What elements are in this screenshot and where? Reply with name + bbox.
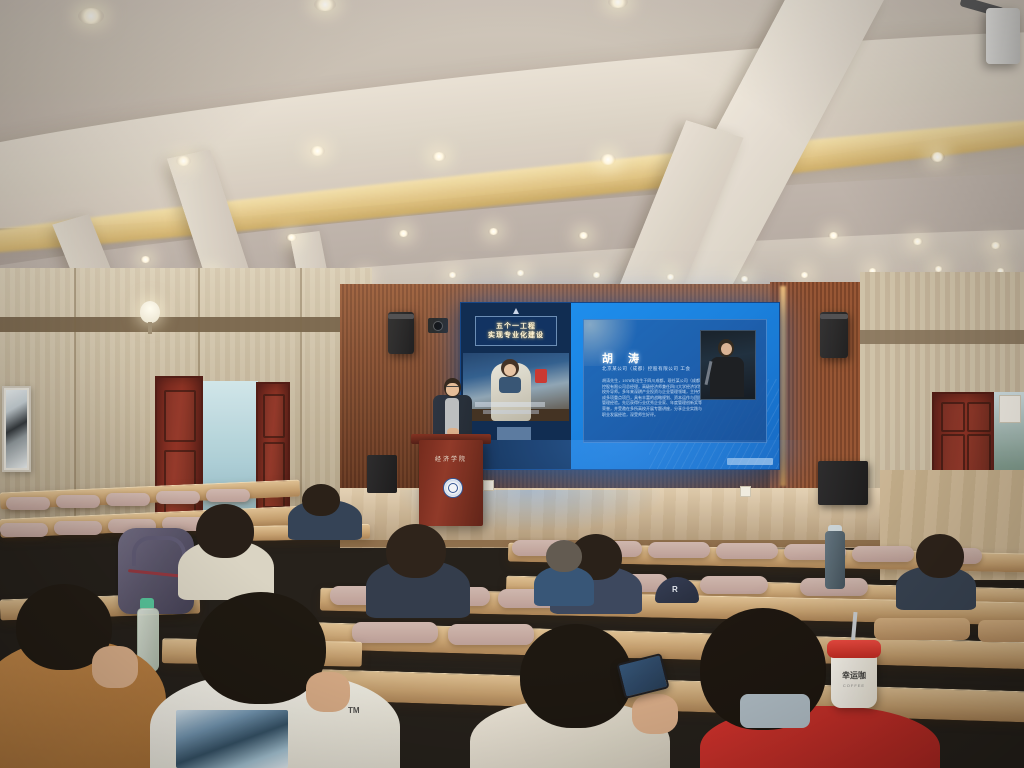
slide-right-panel: 胡 涛 北京某公司（成都）控股有限公司 工会 胡涛先生，1978年出生于四川成都… (571, 303, 779, 469)
chair-back (56, 495, 100, 508)
slide-title-line2: 实现专业化建设 (488, 332, 544, 340)
glasses-icon (446, 386, 459, 390)
ceiling-downlight (488, 228, 499, 235)
wall-sconce-arm (148, 322, 152, 334)
person-head (916, 534, 964, 578)
wall-seam (300, 268, 302, 530)
profile-name: 胡 涛 (602, 350, 645, 366)
chair-back (54, 521, 102, 535)
wall-sconce (140, 301, 160, 323)
floor-subwoofer (818, 461, 868, 505)
door-panel (164, 450, 196, 514)
tshirt-tm-mark: TM (348, 706, 360, 715)
chair-back (716, 543, 778, 559)
cup-brand-sub: COFFEE (831, 683, 877, 688)
ceiling-downlight (286, 234, 297, 241)
chair-back (352, 622, 438, 643)
person-hand (92, 646, 138, 688)
chair-back (648, 542, 710, 558)
video-caption-bar (475, 402, 545, 407)
person-collar (740, 694, 810, 728)
tshirt-graphic (176, 710, 288, 768)
person-shoulders (534, 566, 594, 606)
chair-back (156, 491, 200, 504)
slide-video-still (463, 353, 569, 421)
backpack-zipper (128, 569, 184, 578)
ceiling-downlight (800, 272, 809, 278)
chair-seat-wood (978, 620, 1024, 642)
ceiling-projector (986, 8, 1020, 64)
ceiling-downlight (310, 146, 325, 156)
profile-card: 胡 涛 北京某公司（成都）控股有限公司 工会 胡涛先生，1978年出生于四川成都… (583, 319, 767, 443)
ceiling-downlight (578, 232, 589, 239)
cap-logo: R (672, 585, 678, 594)
wall-outlet-plate (483, 480, 494, 491)
cup-brand-text: 幸运咖 (831, 670, 877, 681)
chair-back (206, 489, 250, 502)
slide-title-box: 五个一工程 实现专业化建设 (475, 316, 557, 346)
chair-back (0, 523, 48, 537)
projection-screen: 五个一工程 实现专业化建设 胡 涛 北京某公司（成都）控股有限公司 工会 (460, 302, 780, 470)
profile-subtitle: 北京某公司（成都）控股有限公司 工会 (602, 366, 691, 372)
chair-seat-wood (874, 618, 970, 640)
ink-painting (6, 390, 27, 468)
wall-outlet-plate (740, 486, 751, 497)
ceiling-downlight (666, 274, 675, 280)
wall-notice-sign (999, 395, 1021, 423)
ceiling-downlight (912, 238, 923, 245)
person-head (546, 540, 582, 572)
door-panel (967, 402, 991, 432)
drink-cup: 幸运咖 COFFEE (831, 650, 877, 708)
profile-biography: 胡涛先生，1978年出生于四川成都，现任某公司（成都）控股有限公司总经理，高级经… (602, 378, 702, 417)
photo-person-face (721, 343, 732, 355)
thermos-flask (825, 531, 845, 589)
speaker-grille (388, 314, 414, 319)
podium-name-plate: 经济学院 (419, 454, 483, 463)
wall-light-strip (780, 286, 786, 486)
drink-cup-lid (827, 640, 881, 658)
left-wall-trim-band (0, 317, 372, 332)
ceiling-downlight (600, 154, 616, 165)
door-panel (263, 442, 285, 508)
presenter (432, 378, 472, 440)
video-person-face (504, 364, 516, 376)
marker-icon (513, 308, 519, 314)
video-caption-bar-2 (483, 410, 539, 414)
person-head (196, 504, 254, 558)
stage-monitor-speaker (367, 455, 397, 493)
speaker-grille (820, 314, 848, 319)
door-panel (263, 394, 285, 438)
person-head (520, 624, 632, 728)
chair-back (448, 624, 534, 645)
ceiling-downlight (592, 272, 601, 278)
door-right-leaf[interactable] (256, 382, 290, 526)
person-head (386, 524, 446, 578)
left-wall-speaker (388, 312, 414, 354)
chair-back (106, 493, 150, 506)
person-head (302, 484, 340, 516)
ceiling-downlight (516, 270, 525, 276)
photo-person-body (710, 357, 744, 397)
slide-title-line1: 五个一工程 (496, 323, 536, 331)
person-hand (632, 694, 678, 734)
ceiling-downlight (398, 230, 409, 237)
wall-seam (198, 268, 200, 383)
podium: 经济学院 (419, 440, 483, 526)
video-person-scarf (499, 377, 521, 393)
profile-photo (700, 330, 756, 400)
ceiling-downlight (78, 8, 104, 24)
ceiling-downlight (828, 232, 839, 239)
right-wall-speaker (820, 312, 848, 358)
right-wall-trim-band (860, 330, 1024, 344)
ceiling-downlight (176, 156, 191, 166)
chair-back (6, 497, 50, 510)
person-hand (306, 672, 350, 712)
university-emblem-icon (443, 478, 463, 498)
ceiling-downlight (432, 152, 446, 161)
ceiling-downlight (448, 272, 457, 278)
ceiling-downlight (740, 276, 749, 282)
door-left-leaf[interactable] (155, 376, 203, 528)
camera-lens-icon (433, 321, 443, 331)
slide-badge (497, 427, 531, 440)
chair-back (852, 546, 914, 562)
ceiling (0, 0, 1024, 300)
framed-artwork (2, 386, 31, 472)
video-red-object (535, 369, 547, 383)
slide-watermark (727, 458, 773, 465)
ceiling-downlight (990, 242, 1001, 249)
door-panel (164, 390, 196, 442)
chair-back (700, 576, 768, 594)
ceiling-downlight (140, 256, 151, 263)
lecture-hall-photo: 五个一工程 实现专业化建设 胡 涛 北京某公司（成都）控股有限公司 工会 (0, 0, 1024, 768)
door-panel (941, 402, 965, 432)
ceiling-downlight (930, 152, 945, 162)
